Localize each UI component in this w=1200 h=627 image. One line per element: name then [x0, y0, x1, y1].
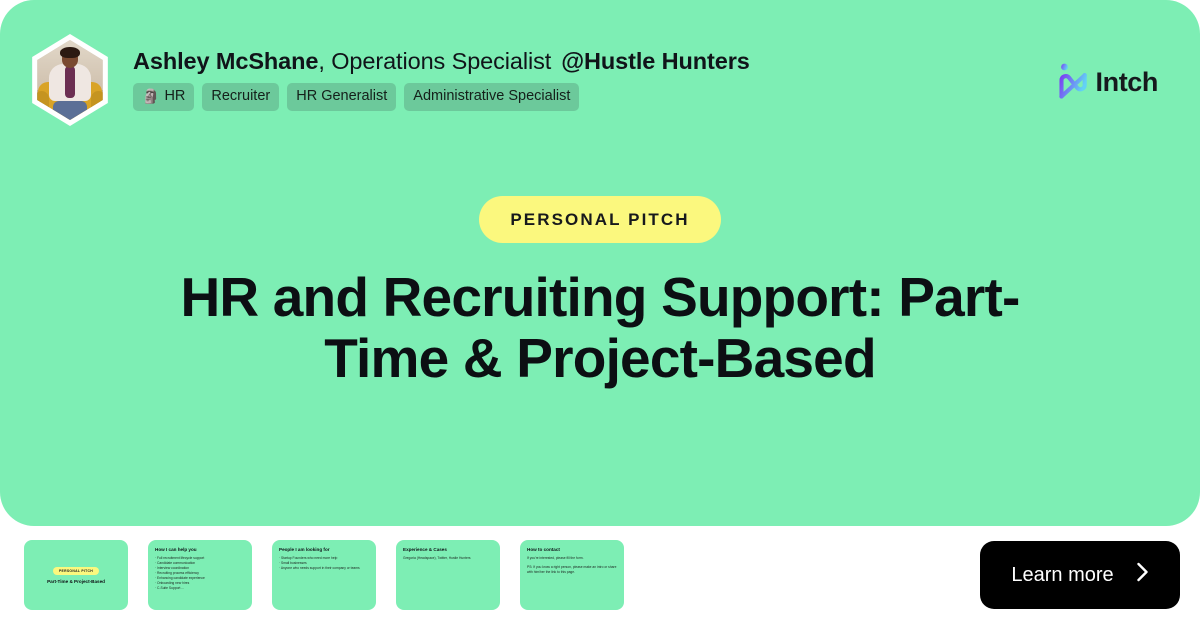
thumbnail-title: How to contact: [527, 547, 617, 553]
pitch-page: Ashley McShane, Operations Specialist@Hu…: [0, 0, 1200, 627]
personal-pitch-badge: PERSONAL PITCH: [479, 196, 720, 243]
chevron-right-icon: [1136, 562, 1149, 588]
learn-more-label: Learn more: [1011, 564, 1113, 587]
thumbnail-title: How I can help you: [155, 547, 245, 553]
hero-panel: Ashley McShane, Operations Specialist@Hu…: [0, 0, 1200, 526]
slide-thumbnail-strip: PERSONAL PITCH Part-Time & Project-Based…: [24, 540, 624, 610]
profile-name-line: Ashley McShane, Operations Specialist@Hu…: [133, 47, 750, 75]
thumbnail-title: Experience & Cases: [403, 547, 493, 553]
page-title: HR and Recruiting Support: Part-Time & P…: [0, 267, 1200, 389]
profile-role: , Operations Specialist: [318, 48, 551, 74]
tag-recruiter[interactable]: Recruiter: [202, 83, 279, 111]
tag-label: HR Generalist: [296, 89, 387, 104]
tag-label: Recruiter: [211, 89, 270, 104]
profile-handle[interactable]: @Hustle Hunters: [561, 48, 750, 74]
tag-label: HR: [164, 89, 185, 104]
tag-administrative-specialist[interactable]: Administrative Specialist: [404, 83, 579, 111]
brand-logo[interactable]: Intch: [1057, 62, 1159, 102]
thumbnail-text: If you're interested, please fill the fo…: [527, 556, 617, 561]
thumbnail-how-i-can-help[interactable]: How I can help you Full recruitment life…: [148, 540, 252, 610]
thumbnail-experience-cases[interactable]: Experience & Cases Gregoria (Headspace),…: [396, 540, 500, 610]
profile-name: Ashley McShane: [133, 48, 318, 74]
learn-more-button[interactable]: Learn more: [980, 541, 1180, 609]
thumbnail-people-looking-for[interactable]: People I am looking for Startup Founders…: [272, 540, 376, 610]
thumbnail-title: People I am looking for: [279, 547, 369, 553]
thumbnail-cover[interactable]: PERSONAL PITCH Part-Time & Project-Based: [24, 540, 128, 610]
tag-hr[interactable]: 🗿 HR: [133, 83, 194, 111]
mini-title: Part-Time & Project-Based: [47, 579, 105, 585]
thumbnail-how-to-contact[interactable]: How to contact If you're interested, ple…: [520, 540, 624, 610]
list-item: Anyone who needs support in their compan…: [279, 566, 369, 571]
thumbnail-text: PS: If you know a right person, please m…: [527, 565, 617, 575]
profile-header: Ashley McShane, Operations Specialist@Hu…: [26, 34, 750, 126]
thumbnail-list: Startup Founders who need more help Smal…: [279, 556, 369, 571]
tag-label: Administrative Specialist: [413, 89, 570, 104]
moai-icon: 🗿: [142, 89, 159, 104]
brand-name: Intch: [1096, 67, 1159, 98]
profile-text: Ashley McShane, Operations Specialist@Hu…: [133, 34, 750, 111]
intch-n-mark-icon: [1057, 62, 1087, 102]
mini-badge: PERSONAL PITCH: [53, 567, 99, 575]
profile-tags: 🗿 HR Recruiter HR Generalist Administrat…: [133, 83, 750, 111]
hero-content: PERSONAL PITCH HR and Recruiting Support…: [0, 196, 1200, 389]
thumbnail-text: Gregoria (Headspace), Twitter, Hustle Hu…: [403, 556, 493, 561]
tag-hr-generalist[interactable]: HR Generalist: [287, 83, 396, 111]
list-item: C-Suite Support ...: [155, 586, 245, 591]
avatar[interactable]: [26, 34, 114, 126]
thumbnail-list: Full recruitment lifecycle support Candi…: [155, 556, 245, 591]
